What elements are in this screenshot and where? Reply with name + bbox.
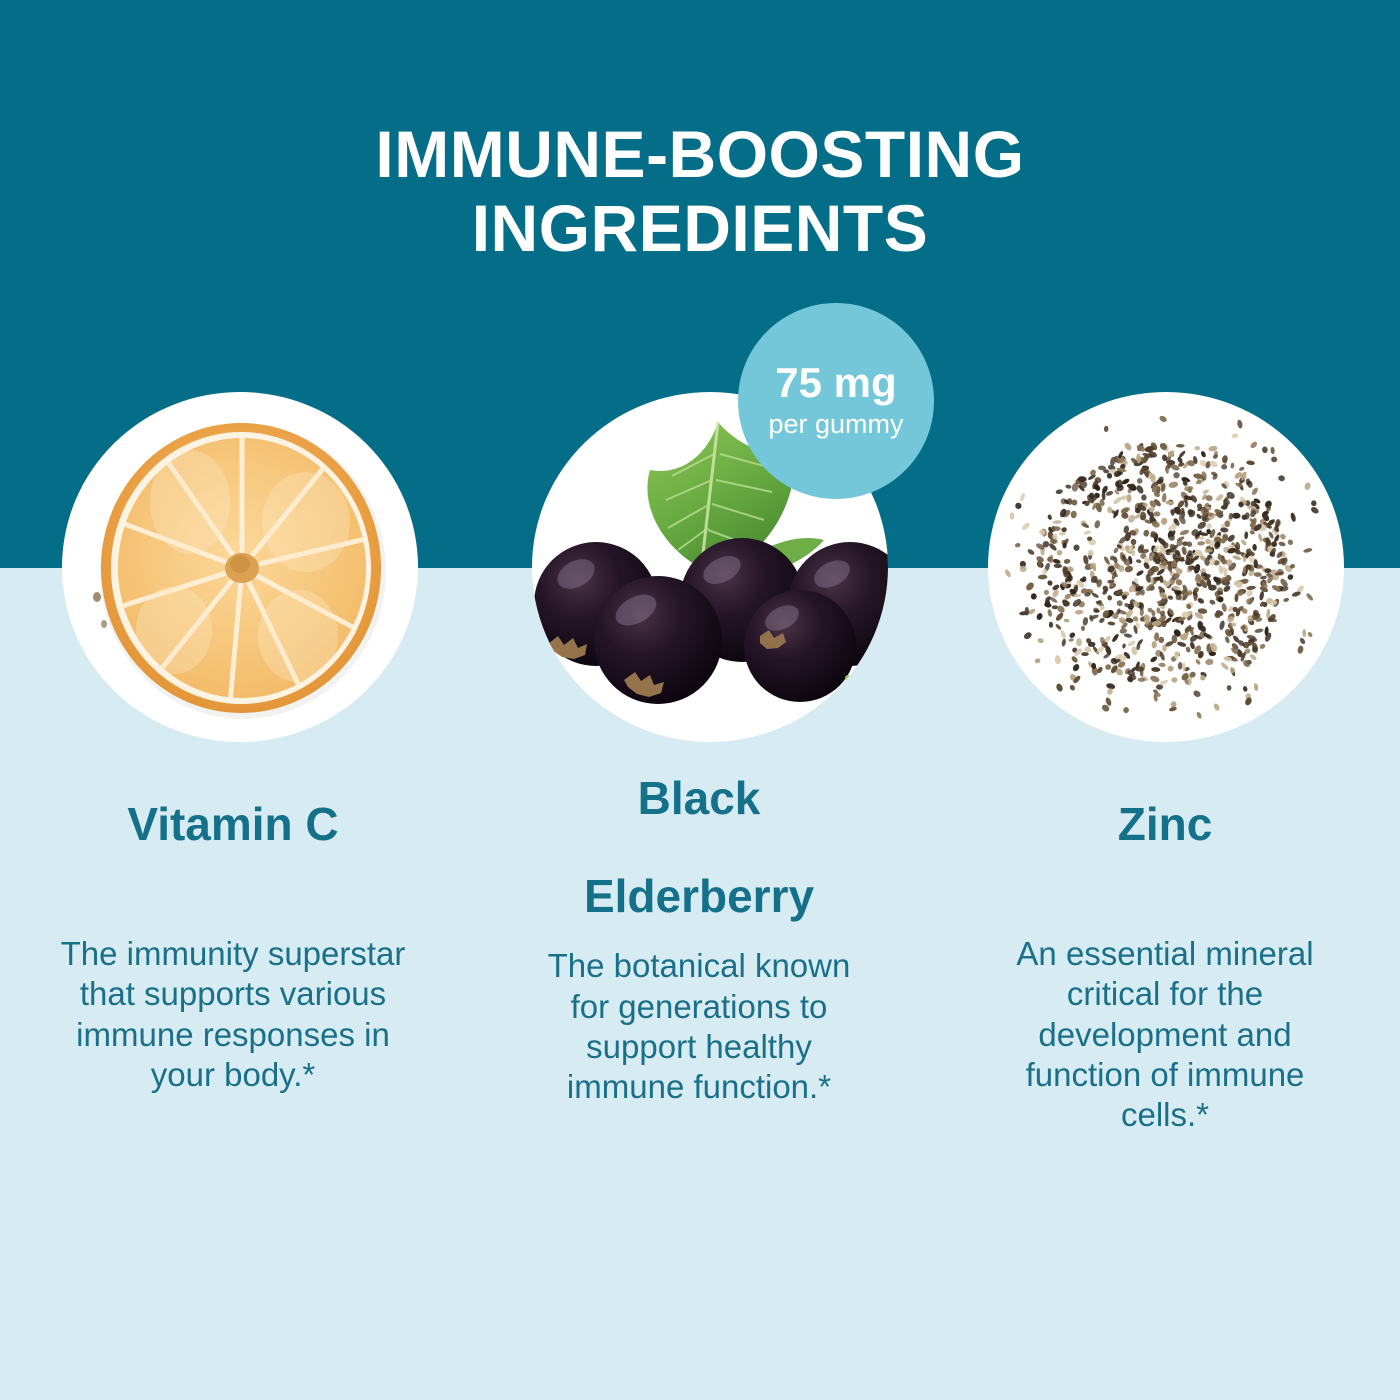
ingredient-title-zinc: Zinc: [954, 800, 1376, 908]
ingredient-image-vitamin-c: [62, 392, 418, 742]
ingredient-description-black-elderberry: The botanical known for generations to s…: [488, 946, 910, 1107]
ingredient-column-vitamin-c: Vitamin C The immunity superstar that su…: [0, 800, 466, 1135]
page-title-line-2: INGREDIENTS: [0, 192, 1400, 266]
infographic-page: IMMUNE-BOOSTING INGREDIENTS: [0, 0, 1400, 1400]
dosage-badge: 75 mg per gummy: [738, 303, 934, 499]
chia-seeds-icon: [988, 392, 1344, 742]
badge-amount: 75 mg: [775, 362, 896, 404]
ingredient-column-black-elderberry: Black Elderberry The botanical known for…: [466, 800, 932, 1135]
ingredient-image-zinc: [988, 392, 1344, 742]
ingredient-title-line-2: Elderberry: [488, 872, 910, 921]
ingredient-title-line-1: Vitamin C: [22, 800, 444, 849]
ingredient-columns: Vitamin C The immunity superstar that su…: [0, 800, 1400, 1135]
page-title-line-1: IMMUNE-BOOSTING: [0, 118, 1400, 192]
ingredient-description-vitamin-c: The immunity superstar that supports var…: [22, 934, 444, 1095]
orange-slice-icon: [62, 392, 418, 742]
ingredient-title-line-1: Black: [488, 774, 910, 823]
badge-sublabel: per gummy: [768, 410, 903, 440]
ingredient-description-zinc: An essential mineral critical for the de…: [954, 934, 1376, 1135]
ingredient-column-zinc: Zinc An essential mineral critical for t…: [932, 800, 1398, 1135]
ingredient-title-black-elderberry: Black Elderberry: [488, 774, 910, 920]
ingredient-title-line-1: Zinc: [954, 800, 1376, 849]
page-title: IMMUNE-BOOSTING INGREDIENTS: [0, 118, 1400, 266]
ingredient-title-vitamin-c: Vitamin C: [22, 800, 444, 908]
